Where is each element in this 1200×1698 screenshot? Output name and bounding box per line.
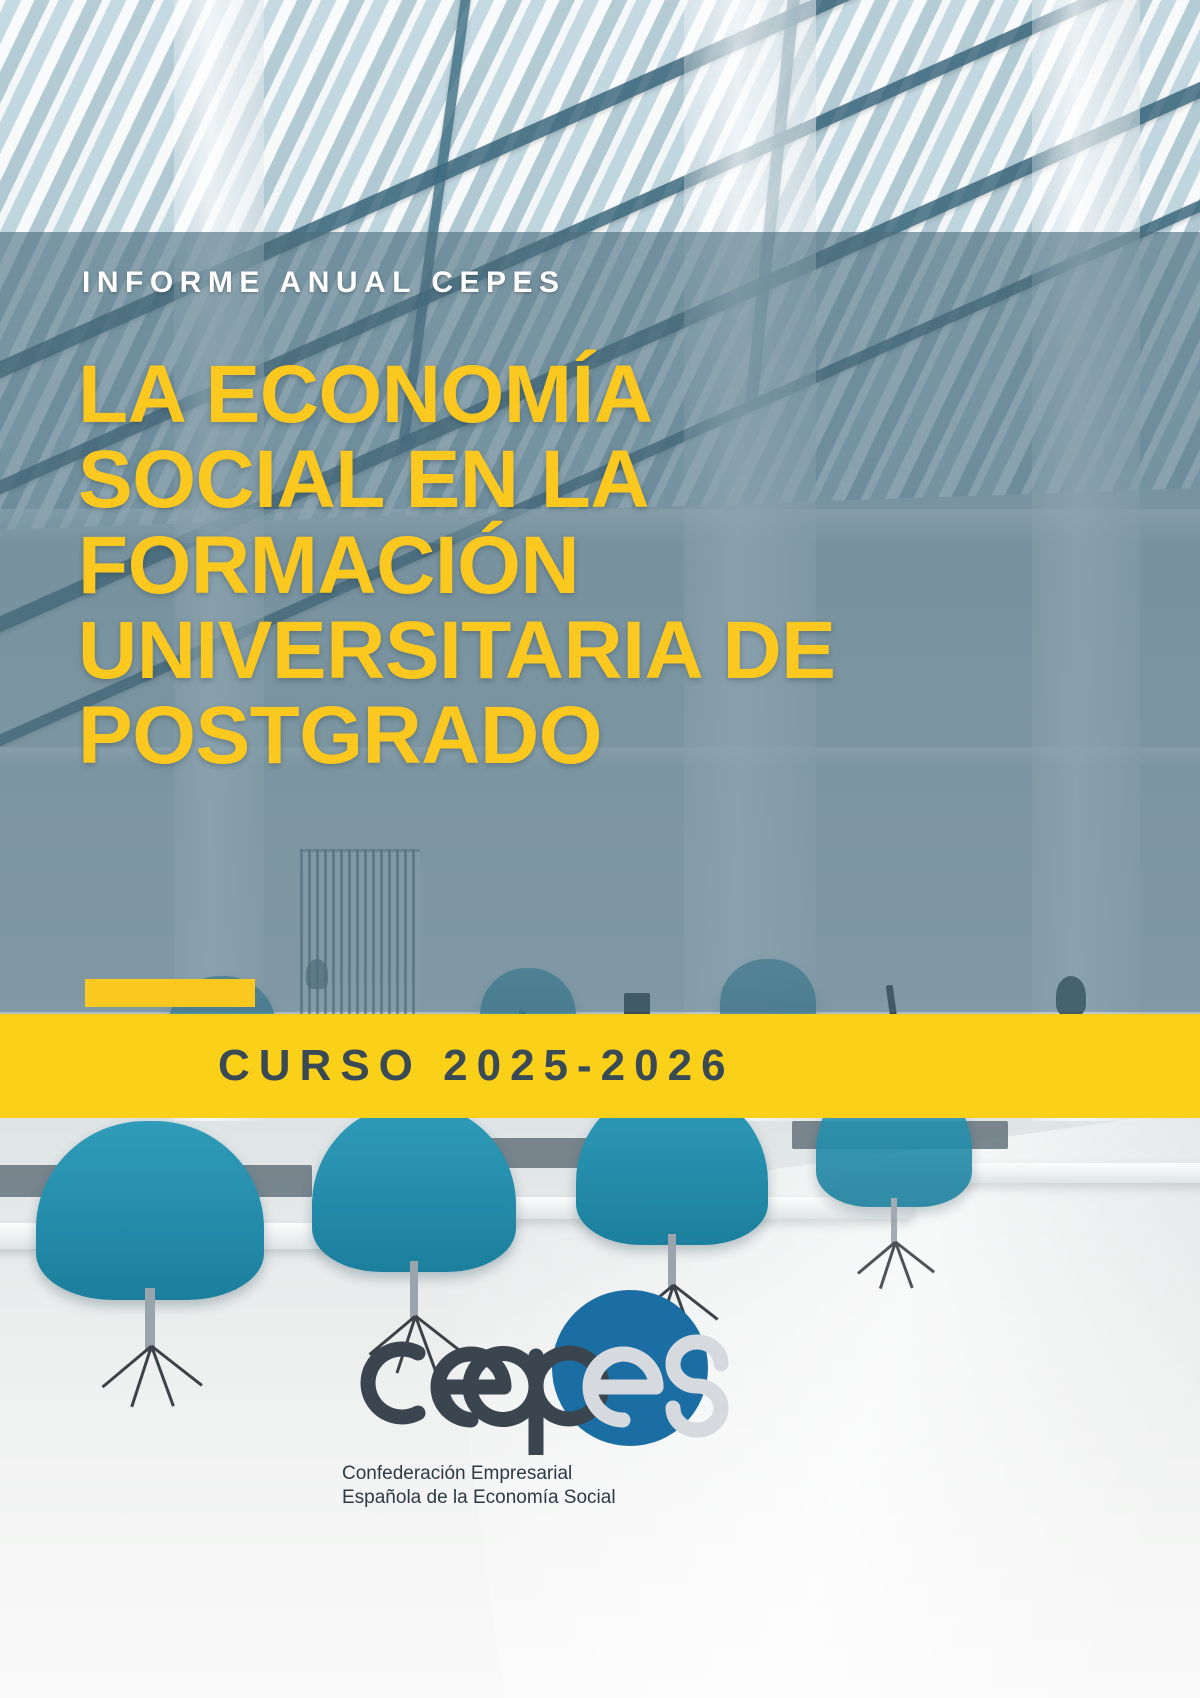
title-line-4: UNIVERSITARIA DE — [78, 608, 978, 693]
report-kicker: INFORME ANUAL CEPES — [82, 268, 566, 298]
photo-office-chair — [36, 1121, 264, 1410]
title-line-5: POSTGRADO — [78, 693, 978, 778]
cepes-logo-block: Confederación Empresarial Española de la… — [330, 1290, 800, 1530]
cepes-logo-icon — [330, 1290, 800, 1455]
report-cover-page: INFORME ANUAL CEPES LA ECONOMÍA SOCIAL E… — [0, 0, 1200, 1698]
tagline-line-1: Confederación Empresarial — [342, 1462, 616, 1486]
page-title: LA ECONOMÍA SOCIAL EN LA FORMACIÓN UNIVE… — [78, 352, 978, 778]
title-line-2: SOCIAL EN LA — [78, 437, 978, 522]
yellow-rule-divider — [85, 979, 255, 1007]
tagline-line-2: Española de la Economía Social — [342, 1486, 616, 1510]
title-line-1: LA ECONOMÍA — [78, 352, 978, 437]
title-line-3: FORMACIÓN — [78, 523, 978, 608]
course-banner-text: CURSO 2025-2026 — [0, 1044, 735, 1088]
cepes-logo-tagline: Confederación Empresarial Española de la… — [342, 1462, 616, 1511]
course-banner: CURSO 2025-2026 — [0, 1014, 1200, 1118]
